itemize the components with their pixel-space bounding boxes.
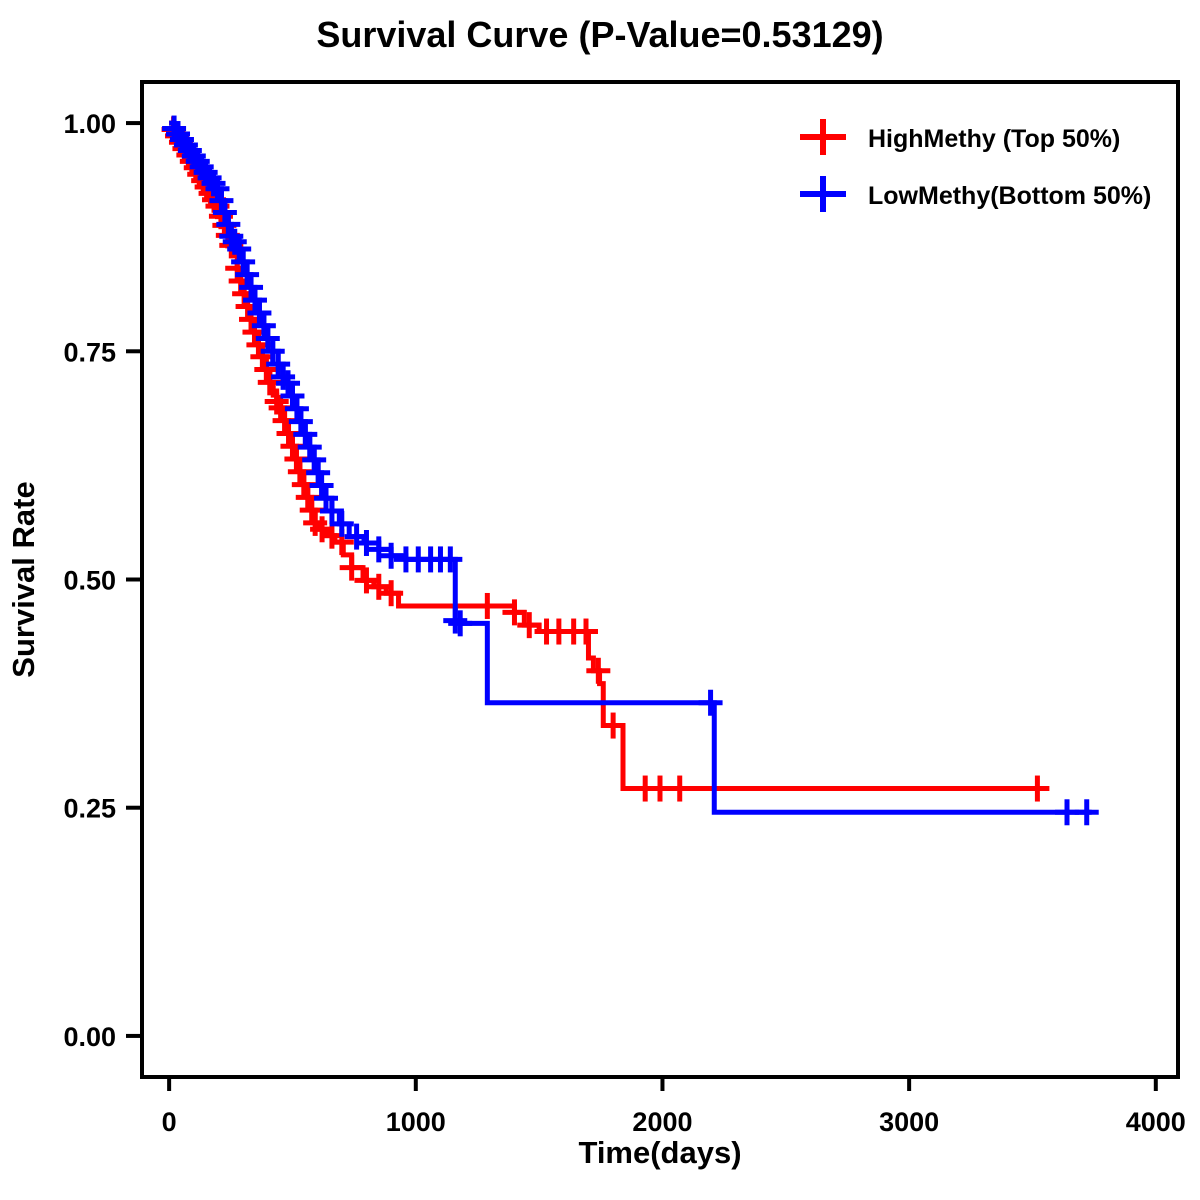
- y-axis-tick-label: 0.00: [63, 1022, 116, 1052]
- censor-mark: [306, 460, 330, 486]
- censor-mark: [354, 567, 378, 593]
- censor-mark: [293, 421, 317, 447]
- censor-mark: [699, 690, 723, 716]
- censor-mark: [302, 447, 326, 473]
- censor-mark: [340, 555, 364, 581]
- plot-border: [142, 82, 1178, 1077]
- censor-mark: [1075, 799, 1099, 825]
- censor-mark: [367, 574, 391, 600]
- y-axis-tick-label: 0.50: [63, 566, 116, 596]
- x-axis-tick-label: 2000: [632, 1107, 692, 1137]
- censor-mark: [298, 434, 322, 460]
- censor-mark: [443, 608, 467, 634]
- x-axis-title: Time(days): [578, 1135, 741, 1170]
- censor-mark: [448, 610, 472, 636]
- censor-mark: [310, 472, 334, 498]
- y-axis-tick-label: 0.75: [63, 337, 116, 367]
- censor-mark: [517, 612, 541, 638]
- censor-mark: [1025, 776, 1049, 802]
- y-axis-title: Survival Rate: [6, 481, 41, 677]
- x-axis-tick-label: 4000: [1126, 1107, 1186, 1137]
- censor-mark: [367, 536, 391, 562]
- legend-entry[interactable]: HighMethy (Top 50%): [800, 119, 1120, 155]
- censor-mark: [475, 593, 499, 619]
- legend-label: HighMethy (Top 50%): [868, 125, 1120, 153]
- censor-mark: [574, 619, 598, 645]
- legend-label: LowMethy(Bottom 50%): [868, 182, 1151, 210]
- y-axis-tick-label: 1.00: [63, 109, 116, 139]
- legend-entry[interactable]: LowMethy(Bottom 50%): [800, 176, 1151, 212]
- y-axis-tick-label: 0.25: [63, 794, 116, 824]
- censor-mark: [289, 409, 313, 435]
- x-axis-tick-label: 3000: [879, 1107, 939, 1137]
- x-axis-tick-label: 0: [162, 1107, 177, 1137]
- censor-mark: [668, 776, 692, 802]
- censor-mark: [586, 658, 610, 684]
- x-axis-tick-label: 1000: [386, 1107, 446, 1137]
- censor-mark: [379, 543, 403, 569]
- survival-curve-high-methy: [169, 123, 1042, 788]
- survival-plot: 010002000300040000.000.250.500.751.00Tim…: [0, 0, 1200, 1200]
- survival-curve-figure: Survival Curve (P-Value=0.53129) 0100020…: [0, 0, 1200, 1200]
- survival-curve-low-methy: [169, 123, 1092, 812]
